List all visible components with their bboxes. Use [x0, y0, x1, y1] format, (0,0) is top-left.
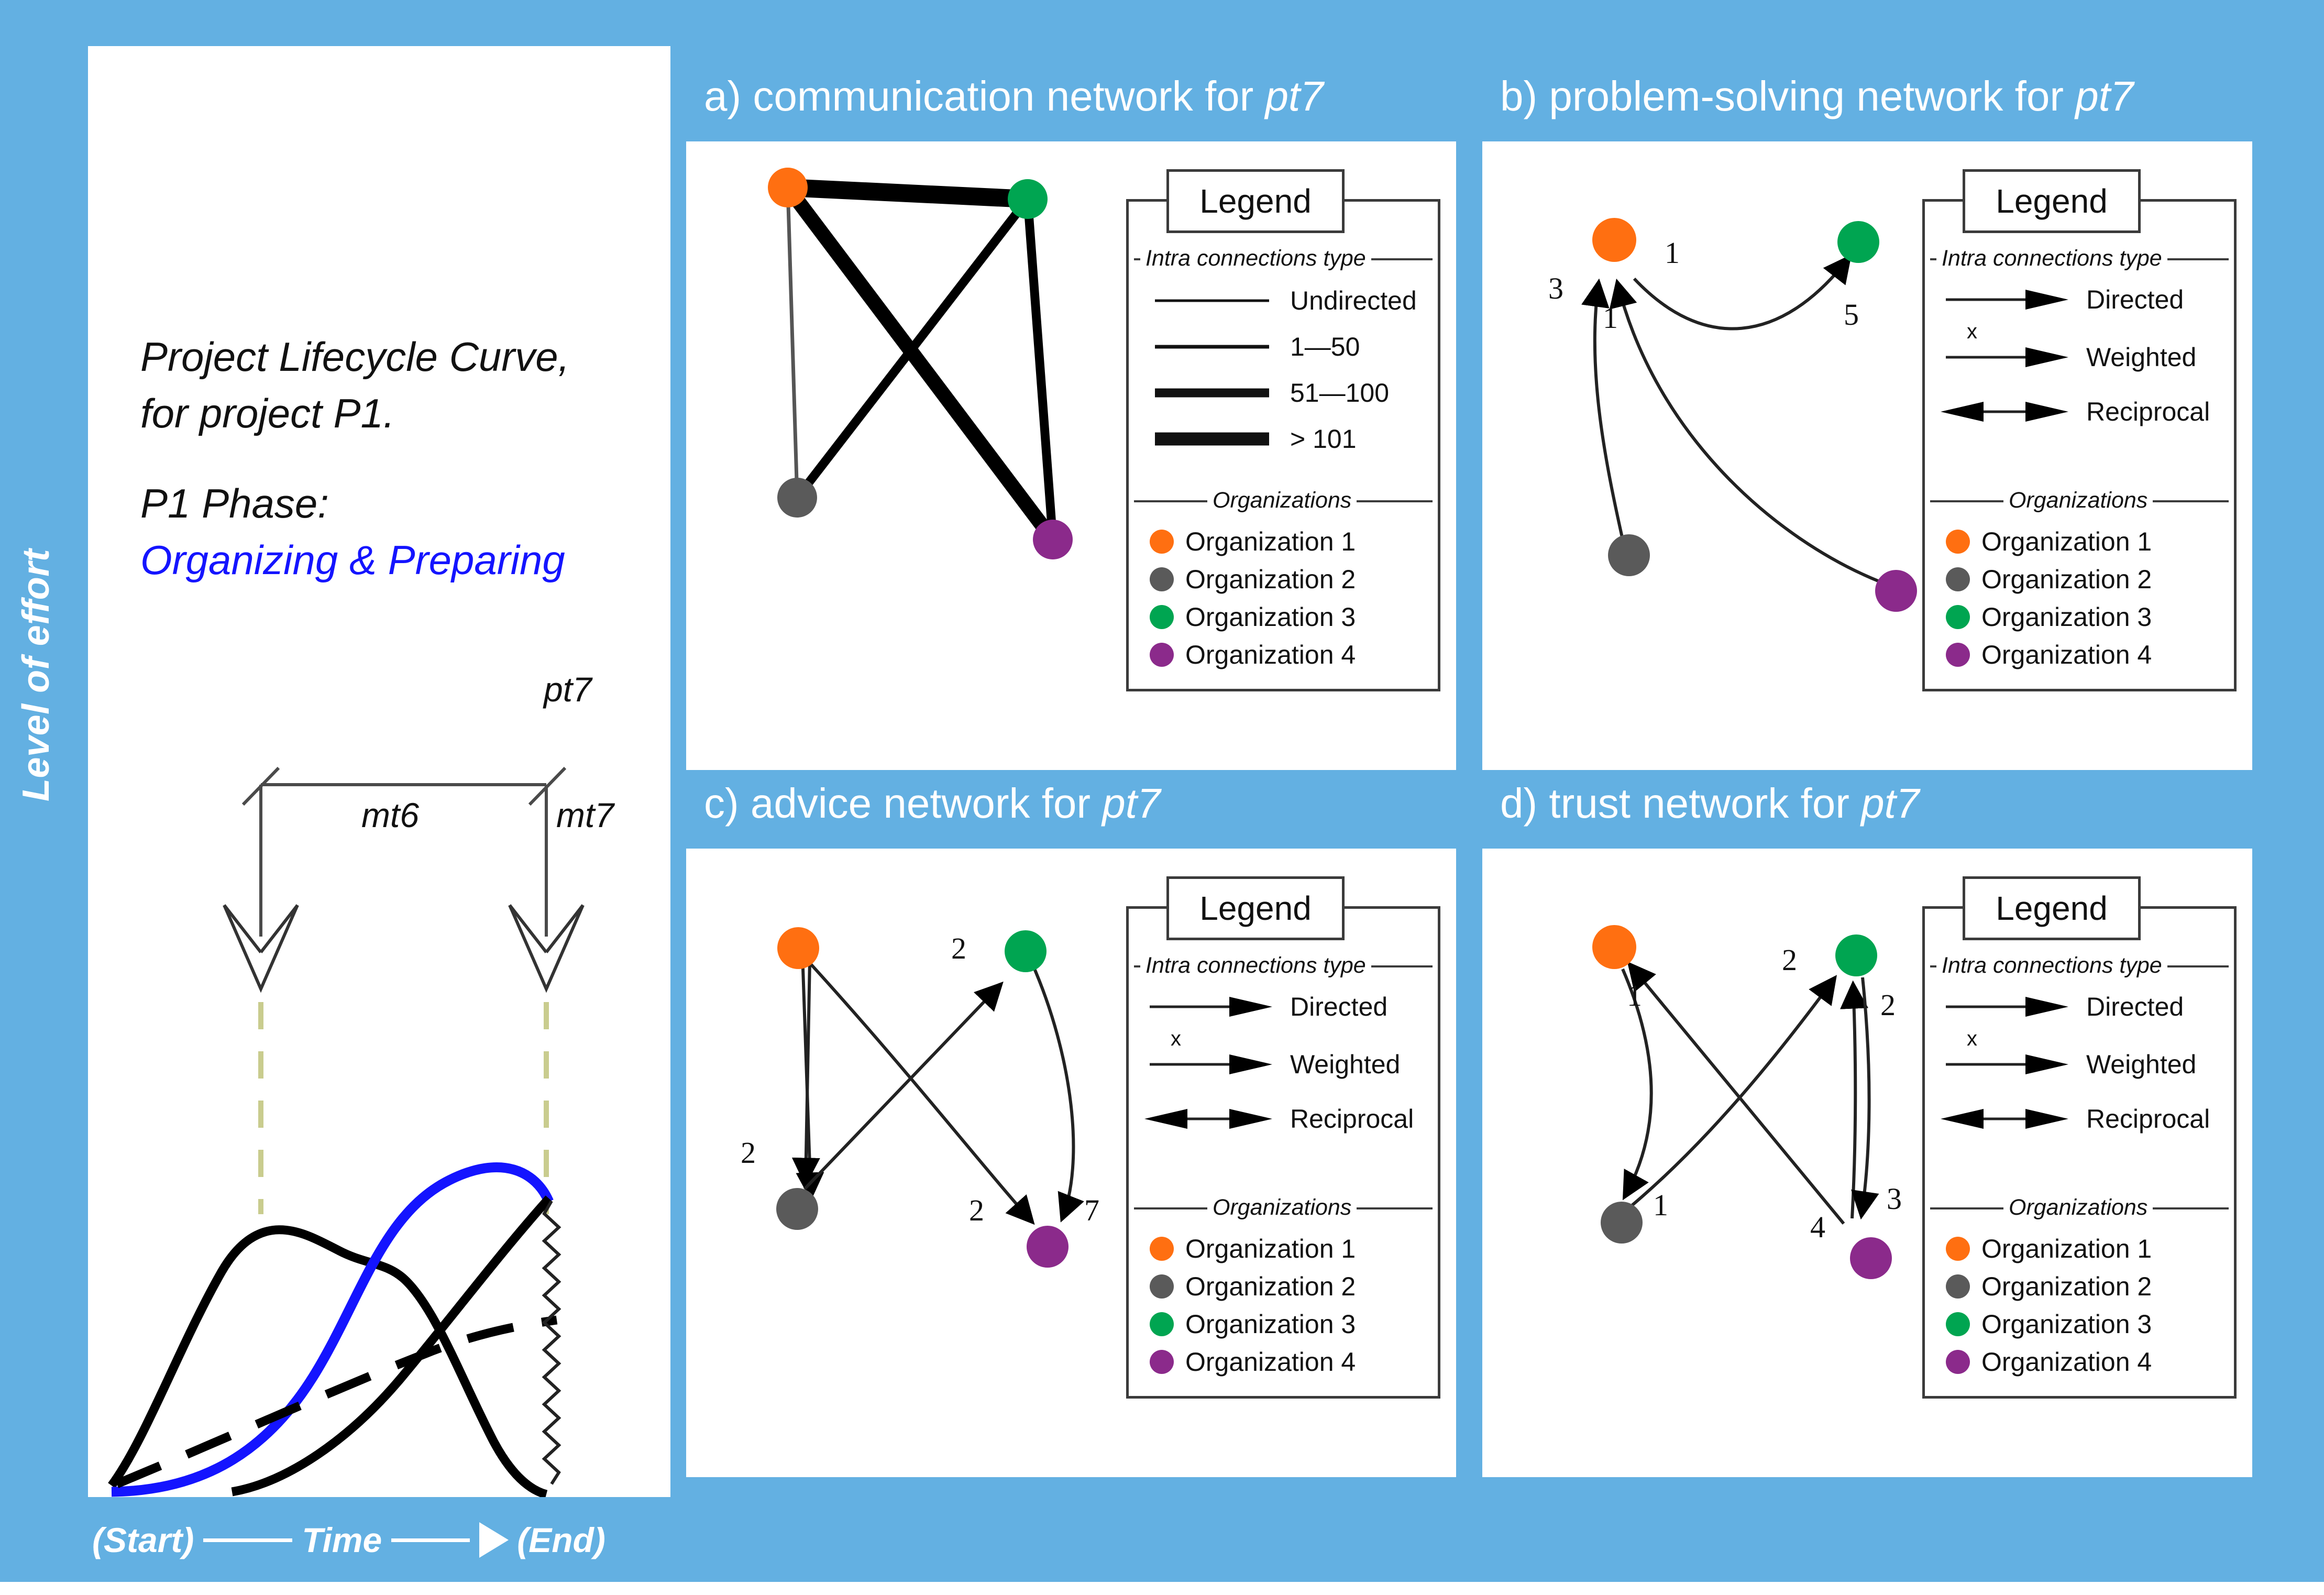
panel-a: a) communication network for pt7 Legend	[686, 68, 1456, 770]
org3-color-dot-icon	[1150, 1312, 1174, 1336]
weighted-arrow-icon: x	[1937, 1052, 2079, 1076]
panel-c-legend-org-2: Organization 3	[1150, 1309, 1356, 1339]
panel-a-body: Legend Intra connections type Undirected…	[686, 141, 1456, 770]
edge-org1-org4	[788, 188, 1053, 540]
weight-d-gray-in: 1	[1653, 1188, 1668, 1222]
line-swatch-over-101-icon	[1141, 427, 1283, 451]
panel-b-legend-org-0: Organization 1	[1946, 526, 2152, 557]
org2-color-dot-icon	[1946, 1274, 1970, 1299]
panel-c-legend-org-0: Organization 1	[1150, 1234, 1356, 1264]
node-org4	[1850, 1237, 1892, 1279]
panel-d-title: d) trust network for pt7	[1500, 779, 1919, 828]
node-org3	[1835, 934, 1877, 976]
panel-a-conn-section: Intra connections type	[1140, 246, 1371, 271]
edge-c-orange-to-purple	[808, 961, 1032, 1222]
line-swatch-51-100-icon	[1141, 381, 1283, 405]
node-org1	[1592, 218, 1636, 262]
node-org3	[1837, 221, 1879, 263]
weight-c-purple-in-right: 7	[1084, 1193, 1099, 1227]
org3-color-dot-icon	[1150, 605, 1174, 629]
panel-c-title: c) advice network for pt7	[704, 779, 1161, 828]
weight-x-marker: x	[1967, 320, 1977, 344]
panel-a-legend-org-2: Organization 3	[1150, 602, 1356, 632]
mt7-label: mt7	[556, 795, 614, 835]
panel-a-legend-org-0: Organization 1	[1150, 526, 1356, 557]
panel-b-legend-conn-0: Directed	[1937, 284, 2184, 315]
node-org3	[1005, 930, 1047, 972]
panel-d-legend-org-2: Organization 3	[1946, 1309, 2152, 1339]
panel-a-legend-conn-0: Undirected	[1141, 285, 1417, 316]
weight-c-purple-in-left: 2	[969, 1193, 984, 1227]
panel-a-legend-conn-1: 1—50	[1141, 332, 1360, 362]
reciprocal-arrow-icon	[1141, 1107, 1283, 1131]
weight-d-green-in-right: 2	[1880, 988, 1896, 1022]
mt6-label: mt6	[361, 795, 419, 835]
panel-a-legend: Legend Intra connections type Undirected…	[1126, 199, 1440, 691]
weight-org4-org1: 1	[1603, 301, 1618, 335]
weight-d-green-in-left: 2	[1782, 943, 1797, 977]
panel-a-legend-conn-2: 51—100	[1141, 378, 1389, 408]
y-axis-label-text: Level of effort	[15, 529, 58, 801]
panel-b-org-section: Organizations	[2003, 488, 2153, 513]
panel-c: c) advice network for pt7	[686, 775, 1456, 1477]
org2-color-dot-icon	[1946, 567, 1970, 591]
panel-c-legend-org-1: Organization 2	[1150, 1271, 1356, 1302]
org4-color-dot-icon	[1946, 1350, 1970, 1374]
panel-a-legend-org-3: Organization 4	[1150, 640, 1356, 670]
panel-c-legend-conn-0: Directed	[1141, 992, 1387, 1022]
weight-x-marker: x	[1171, 1027, 1181, 1051]
edge-org1-org3	[788, 188, 1028, 199]
node-org1	[1592, 925, 1636, 969]
line-swatch-undirected-icon	[1141, 289, 1283, 313]
node-org4	[1027, 1226, 1069, 1268]
org4-color-dot-icon	[1150, 643, 1174, 667]
panel-c-body: 2 2 2 7 Legend Intra connections type Di…	[686, 849, 1456, 1477]
panel-a-legend-title: Legend	[1166, 169, 1345, 233]
pt7-bracket-label: pt7	[544, 669, 592, 709]
directed-arrow-icon	[1937, 288, 2079, 312]
panel-d-legend-conn-0: Directed	[1937, 992, 2184, 1022]
weight-org1-org3-target: 5	[1844, 298, 1859, 332]
weight-x-marker: x	[1967, 1027, 1977, 1051]
weight-d-purple-in-right: 3	[1887, 1182, 1902, 1216]
panel-a-legend-conn-3: > 101	[1141, 424, 1357, 454]
edge-c-green-to-purple	[1032, 963, 1073, 1218]
panel-d-legend-org-1: Organization 2	[1946, 1271, 2152, 1302]
directed-arrow-icon	[1141, 995, 1283, 1019]
panel-b: b) problem-solving network for pt7	[1482, 68, 2252, 770]
weight-d-purple-in-left: 4	[1810, 1210, 1825, 1244]
panel-b-network: 3 1 1 5	[1482, 141, 1922, 770]
org1-color-dot-icon	[1946, 1237, 1970, 1261]
panel-d-legend: Legend Intra connections type Directed x…	[1922, 906, 2237, 1399]
x-axis-label: Time	[302, 1520, 382, 1560]
reciprocal-arrow-icon	[1937, 1107, 2079, 1131]
panel-b-title: b) problem-solving network for pt7	[1500, 72, 2133, 120]
panel-c-legend-conn-1: x Weighted	[1141, 1049, 1400, 1080]
panel-d-network: 1 2 2 1 4 3	[1482, 849, 1922, 1477]
panel-c-legend-title: Legend	[1166, 876, 1345, 940]
org3-color-dot-icon	[1946, 1312, 1970, 1336]
panel-b-conn-section: Intra connections type	[1936, 246, 2167, 271]
node-org1	[777, 927, 819, 969]
panel-d-legend-org-3: Organization 4	[1946, 1347, 2152, 1377]
panel-a-title: a) communication network for pt7	[704, 72, 1324, 120]
org1-color-dot-icon	[1946, 530, 1970, 554]
weight-c-gray-in: 2	[741, 1136, 756, 1170]
x-axis-arrow-icon	[479, 1522, 509, 1558]
edge-d-into-purple-4	[1639, 966, 1830, 1224]
x-axis-rule-left	[203, 1538, 292, 1542]
panel-c-conn-section: Intra connections type	[1140, 953, 1371, 978]
panel-c-network: 2 2 2 7	[686, 849, 1126, 1477]
panel-d-org-section: Organizations	[2003, 1195, 2153, 1220]
panel-c-legend-org-3: Organization 4	[1150, 1347, 1356, 1377]
panel-d-conn-section: Intra connections type	[1936, 953, 2167, 978]
x-axis-end: (End)	[517, 1520, 605, 1560]
weight-d-orange-in: 1	[1627, 978, 1642, 1013]
y-axis-label: Level of effort	[0, 283, 39, 555]
x-axis-row: (Start) Time (End)	[92, 1509, 679, 1571]
panel-d-legend-conn-2: Reciprocal	[1937, 1104, 2210, 1134]
jagged-edge	[544, 1201, 559, 1484]
panel-b-legend-title: Legend	[1963, 169, 2141, 233]
panel-b-legend-org-2: Organization 3	[1946, 602, 2152, 632]
weight-org1-org3-source: 1	[1665, 236, 1680, 270]
figure-root: Project Lifecycle Curve, for project P1.…	[0, 0, 2324, 1595]
panel-b-legend-org-3: Organization 4	[1946, 640, 2152, 670]
panel-a-legend-org-1: Organization 2	[1150, 564, 1356, 595]
panel-c-org-section: Organizations	[1207, 1195, 1357, 1220]
panel-d: d) trust network for pt7	[1482, 775, 2252, 1477]
org1-color-dot-icon	[1150, 530, 1174, 554]
node-org2	[777, 478, 817, 518]
node-org1	[768, 168, 808, 207]
node-org3	[1008, 179, 1048, 219]
edge-org3-org4	[1028, 199, 1053, 540]
panel-a-org-section: Organizations	[1207, 488, 1357, 513]
weighted-arrow-icon: x	[1141, 1052, 1283, 1076]
panel-d-legend-conn-1: x Weighted	[1937, 1049, 2196, 1080]
x-axis-rule-right	[391, 1538, 470, 1542]
node-org4	[1033, 520, 1073, 559]
edge-d-purple-to-orange	[1630, 965, 1844, 1224]
edge-org1-org2	[788, 188, 797, 498]
org4-color-dot-icon	[1150, 1350, 1174, 1374]
edge-d-green-to-purple	[1862, 977, 1869, 1215]
node-org2	[1601, 1202, 1643, 1244]
edge-c-gray-to-green	[805, 985, 1000, 1189]
panel-d-legend-org-0: Organization 1	[1946, 1234, 2152, 1264]
node-org2	[1608, 534, 1650, 576]
weight-c-green-in: 2	[951, 931, 966, 965]
lifecycle-chart-svg	[88, 46, 670, 1497]
panel-b-body: 3 1 1 5 Legend Intra connections type Di…	[1482, 141, 2252, 770]
x-axis-start: (Start)	[92, 1520, 194, 1560]
directed-arrow-icon	[1937, 995, 2079, 1019]
org1-color-dot-icon	[1150, 1237, 1174, 1261]
panel-a-network	[686, 141, 1126, 770]
lifecycle-panel: Project Lifecycle Curve, for project P1.…	[88, 46, 670, 1497]
reciprocal-arrow-icon	[1937, 400, 2079, 424]
early-effort-curve-real	[112, 1230, 546, 1494]
node-org4	[1875, 570, 1917, 612]
org2-color-dot-icon	[1150, 1274, 1174, 1299]
edge-d-purple-to-green	[1852, 985, 1855, 1218]
line-swatch-1-50-icon	[1141, 335, 1283, 359]
panel-b-legend: Legend Intra connections type Directed x…	[1922, 199, 2237, 691]
panel-c-legend-conn-2: Reciprocal	[1141, 1104, 1414, 1134]
panel-d-legend-title: Legend	[1963, 876, 2141, 940]
panel-b-legend-conn-2: Reciprocal	[1937, 397, 2210, 427]
node-org2	[776, 1188, 818, 1230]
panel-c-legend: Legend Intra connections type Directed x…	[1126, 906, 1440, 1399]
org4-color-dot-icon	[1946, 643, 1970, 667]
panel-b-legend-conn-1: x Weighted	[1937, 342, 2196, 372]
panel-b-legend-org-1: Organization 2	[1946, 564, 2152, 595]
panel-d-body: 1 2 2 1 4 3 Legend Intra connections typ…	[1482, 849, 2252, 1477]
weighted-arrow-icon: x	[1937, 345, 2079, 369]
org2-color-dot-icon	[1150, 567, 1174, 591]
org3-color-dot-icon	[1946, 605, 1970, 629]
weight-org2-org1: 3	[1548, 271, 1563, 305]
